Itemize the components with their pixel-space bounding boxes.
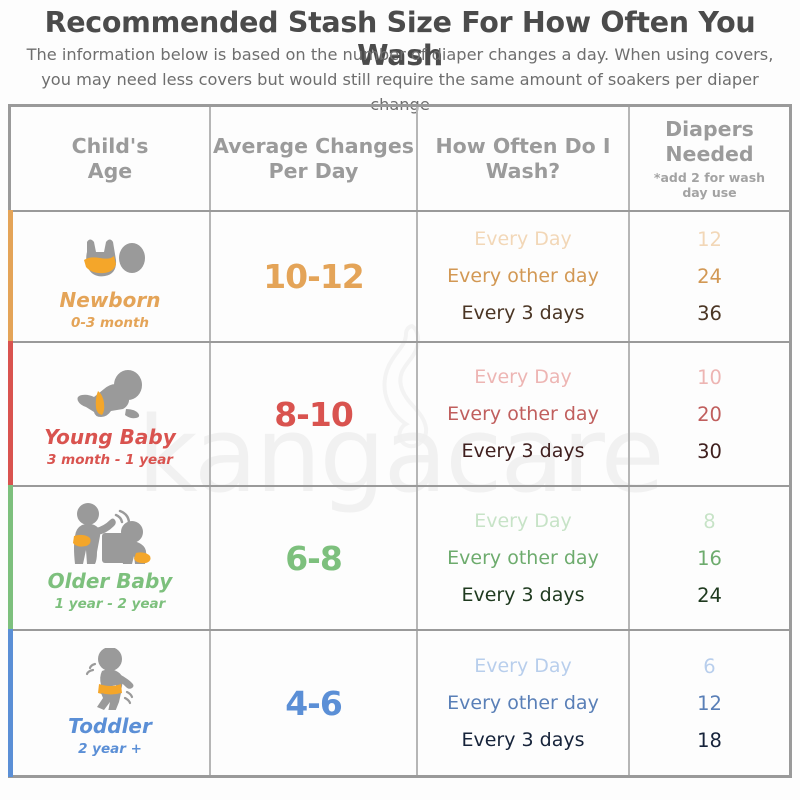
diapers-needed-value: 30 [697, 433, 722, 470]
average-changes-cell: 6-8 [211, 487, 418, 629]
wash-option: Every other day [447, 258, 599, 295]
crawling-baby-icon [64, 359, 156, 421]
diapers-needed-value: 10 [697, 359, 722, 396]
column-header-need-note-line2: day use [654, 185, 765, 200]
age-cell: Newborn 0-3 month [11, 212, 211, 341]
wash-frequency-cell: Every Day Every other day Every 3 days [418, 487, 630, 629]
wash-option: Every Day [474, 503, 572, 540]
age-name: Young Baby [44, 425, 176, 449]
diapers-needed-value: 12 [697, 221, 722, 258]
age-cell: Toddler 2 year + [11, 631, 211, 775]
diapers-needed-value: 12 [697, 685, 722, 722]
diapers-needed-value: 6 [703, 648, 715, 685]
stash-size-table: Child's Age Average Changes Per Day How … [8, 104, 792, 778]
diapers-needed-cell: 12 24 36 [630, 212, 789, 341]
walking-toddler-icon [75, 648, 145, 710]
column-header-avg-line2: Per Day [213, 159, 414, 184]
wash-option: Every Day [474, 221, 572, 258]
average-changes-cell: 8-10 [211, 343, 418, 485]
wash-option: Every Day [474, 648, 572, 685]
wash-option: Every 3 days [461, 722, 584, 759]
diapers-needed-value: 18 [697, 722, 722, 759]
age-name: Older Baby [48, 569, 173, 593]
age-cell: Young Baby 3 month - 1 year [11, 343, 211, 485]
average-changes-value: 6-8 [285, 539, 342, 578]
infographic-page: kangacare Recommended Stash Size For How… [0, 0, 800, 800]
diapers-needed-value: 24 [697, 577, 722, 614]
age-range: 3 month - 1 year [47, 451, 173, 469]
swaddled-newborn-icon [71, 222, 149, 284]
column-header-wash-line2: Wash? [436, 159, 611, 184]
average-changes-cell: 4-6 [211, 631, 418, 775]
column-header-need-note-line1: *add 2 for wash [654, 170, 765, 185]
diapers-needed-cell: 8 16 24 [630, 487, 789, 629]
table-header-row: Child's Age Average Changes Per Day How … [11, 107, 789, 212]
diapers-needed-value: 24 [697, 258, 722, 295]
average-changes-value: 4-6 [285, 684, 342, 723]
column-header-age: Child's Age [11, 107, 211, 210]
diapers-needed-cell: 6 12 18 [630, 631, 789, 775]
diapers-needed-value: 36 [697, 295, 722, 332]
table-row: Newborn 0-3 month 10-12 Every Day Every … [11, 212, 789, 343]
column-header-wash-frequency: How Often Do I Wash? [418, 107, 630, 210]
column-header-average-changes: Average Changes Per Day [211, 107, 418, 210]
column-header-wash-line1: How Often Do I [436, 134, 611, 159]
wash-frequency-cell: Every Day Every other day Every 3 days [418, 343, 630, 485]
diapers-needed-value: 8 [703, 503, 715, 540]
column-header-need-line1: Diapers [665, 117, 754, 142]
wash-option: Every other day [447, 396, 599, 433]
two-toddlers-playing-icon [58, 503, 162, 565]
wash-option: Every other day [447, 685, 599, 722]
wash-option: Every Day [474, 359, 572, 396]
table-row: Older Baby 1 year - 2 year 6-8 Every Day… [11, 487, 789, 631]
column-header-diapers-needed: Diapers Needed *add 2 for wash day use [630, 107, 789, 210]
age-cell: Older Baby 1 year - 2 year [11, 487, 211, 629]
age-name: Newborn [60, 288, 161, 312]
wash-option: Every 3 days [461, 577, 584, 614]
wash-frequency-cell: Every Day Every other day Every 3 days [418, 212, 630, 341]
wash-option: Every 3 days [461, 433, 584, 470]
age-range: 0-3 month [71, 314, 149, 332]
wash-option: Every 3 days [461, 295, 584, 332]
table-row: Toddler 2 year + 4-6 Every Day Every oth… [11, 631, 789, 775]
age-name: Toddler [68, 714, 152, 738]
column-header-age-line2: Age [72, 159, 149, 184]
wash-frequency-cell: Every Day Every other day Every 3 days [418, 631, 630, 775]
diapers-needed-value: 20 [697, 396, 722, 433]
column-header-avg-line1: Average Changes [213, 134, 414, 159]
average-changes-value: 10-12 [263, 257, 364, 296]
age-range: 1 year - 2 year [55, 595, 166, 613]
diapers-needed-value: 16 [697, 540, 722, 577]
wash-option: Every other day [447, 540, 599, 577]
average-changes-cell: 10-12 [211, 212, 418, 341]
column-header-need-line2: Needed [665, 142, 754, 167]
table-row: Young Baby 3 month - 1 year 8-10 Every D… [11, 343, 789, 487]
column-header-age-line1: Child's [72, 134, 149, 159]
average-changes-value: 8-10 [274, 395, 353, 434]
age-range: 2 year + [78, 740, 142, 758]
diapers-needed-cell: 10 20 30 [630, 343, 789, 485]
